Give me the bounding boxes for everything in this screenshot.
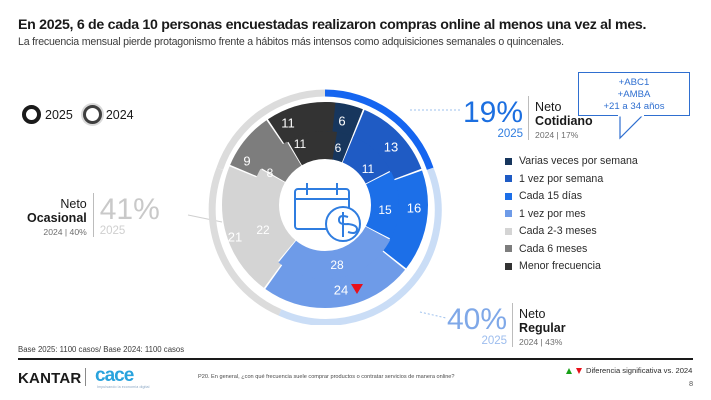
inner-label-6: 11 [294, 137, 307, 151]
insight-bubble: +ABC1 +AMBA +21 a 34 años [578, 72, 690, 116]
net-ocasional-values: 41% 2025 [100, 195, 160, 237]
net-ocasional-previous: 2024 | 40% [43, 227, 86, 237]
donut-chart: 6 13 16 24 21 9 11 6 11 15 28 22 8 11 [205, 85, 445, 325]
outer-label-5: 9 [243, 154, 250, 169]
net-ocasional-value: 41% [100, 195, 160, 225]
outer-label-6: 11 [281, 116, 295, 131]
net-ocasional-name-top: Neto [60, 197, 86, 211]
significant-difference-label: Diferencia significativa vs. 2024 [586, 366, 692, 375]
kantar-logo: KANTAR [18, 370, 81, 387]
footer-divider [18, 358, 693, 360]
calendar-dollar-icon [295, 183, 360, 241]
year-key: 2025 2024 [22, 105, 134, 124]
outer-label-3: 24 [334, 283, 348, 298]
bubble-line-1: +AMBA [618, 89, 651, 100]
legend-label-4: Cada 2-3 meses [519, 225, 597, 237]
cace-logo: cace [95, 366, 133, 385]
net-regular-year: 2025 [481, 335, 507, 347]
outer-label-1: 13 [384, 140, 398, 155]
net-cotidiano-name-bottom: Cotidiano [535, 114, 593, 128]
net-ocasional-year: 2025 [100, 225, 126, 237]
bubble-tail-icon [618, 115, 652, 141]
year-key-2024-label: 2024 [106, 108, 134, 122]
net-cotidiano-year: 2025 [497, 128, 523, 140]
slide-root: En 2025, 6 de cada 10 personas encuestad… [0, 0, 711, 400]
triangle-down-icon [576, 368, 582, 374]
outer-label-4: 21 [228, 230, 242, 245]
legend-item-menor-frecuencia[interactable]: Menor frecuencia [505, 260, 638, 272]
net-regular-divider [512, 303, 513, 347]
net-ocasional-labels: Neto Ocasional 2024 | 40% [27, 197, 87, 237]
legend-swatch-2 [505, 193, 512, 200]
significant-difference-note: Diferencia significativa vs. 2024 [566, 366, 692, 375]
inner-label-5: 8 [267, 166, 274, 180]
net-cotidiano-value: 19% [463, 98, 523, 128]
net-regular-values: 40% 2025 [447, 305, 507, 347]
legend-swatch-1 [505, 175, 512, 182]
legend-label-2: Cada 15 días [519, 190, 582, 202]
donut-svg: 6 13 16 24 21 9 11 6 11 15 28 22 8 11 [205, 85, 445, 325]
year-key-2025-label: 2025 [45, 108, 73, 122]
inner-label-1: 11 [362, 162, 375, 176]
donut-ring-2024-icon [83, 105, 102, 124]
net-cotidiano: 19% 2025 Neto Cotidiano 2024 | 17% [463, 96, 593, 140]
outer-label-2: 16 [407, 201, 421, 216]
legend-item-1-vez-por-mes[interactable]: 1 vez por mes [505, 208, 638, 220]
legend-label-3: 1 vez por mes [519, 208, 586, 220]
legend-item-varias-veces-por-semana[interactable]: Varias veces por semana [505, 155, 638, 167]
legend-swatch-5 [505, 245, 512, 252]
net-cotidiano-labels: Neto Cotidiano 2024 | 17% [535, 100, 593, 140]
net-ocasional: Neto Ocasional 2024 | 40% 41% 2025 [27, 193, 160, 237]
inner-label-4: 22 [256, 223, 270, 237]
legend-label-6: Menor frecuencia [519, 260, 601, 272]
legend-label-5: Cada 6 meses [519, 243, 587, 255]
year-key-2024[interactable]: 2024 [83, 105, 134, 124]
legend-swatch-0 [505, 158, 512, 165]
legend-item-cada-15-dias[interactable]: Cada 15 días [505, 190, 638, 202]
net-ocasional-name-bottom: Ocasional [27, 211, 87, 225]
net-cotidiano-previous: 2024 | 17% [535, 130, 593, 140]
inner-label-0: 6 [335, 141, 342, 155]
net-ocasional-divider [93, 193, 94, 237]
net-regular: 40% 2025 Neto Regular 2024 | 43% [447, 303, 566, 347]
legend-swatch-6 [505, 263, 512, 270]
legend-swatch-3 [505, 210, 512, 217]
page-title: En 2025, 6 de cada 10 personas encuestad… [18, 17, 708, 33]
chart-legend: Varias veces por semana 1 vez por semana… [505, 155, 638, 272]
net-cotidiano-divider [528, 96, 529, 140]
outer-label-0: 6 [338, 114, 345, 129]
question-text: P20. En general, ¿con qué frecuencia sue… [198, 374, 455, 380]
bubble-line-0: +ABC1 [619, 77, 650, 88]
legend-label-1: 1 vez por semana [519, 173, 603, 185]
legend-item-cada-2-3-meses[interactable]: Cada 2-3 meses [505, 225, 638, 237]
page-number: 8 [689, 379, 693, 388]
logo-divider [85, 368, 86, 386]
net-cotidiano-name-top: Neto [535, 100, 593, 114]
cace-logo-tagline: Impulsando la economía digital [97, 385, 150, 389]
legend-swatch-4 [505, 228, 512, 235]
inner-label-2: 15 [378, 203, 392, 217]
net-regular-name-bottom: Regular [519, 321, 566, 335]
donut-ring-2025-icon [22, 105, 41, 124]
inner-label-3: 28 [330, 258, 344, 272]
net-regular-value: 40% [447, 305, 507, 335]
base-note: Base 2025: 1100 casos/ Base 2024: 1100 c… [18, 345, 184, 354]
net-regular-labels: Neto Regular 2024 | 43% [519, 307, 566, 347]
legend-item-1-vez-por-semana[interactable]: 1 vez por semana [505, 173, 638, 185]
legend-item-cada-6-meses[interactable]: Cada 6 meses [505, 243, 638, 255]
net-regular-previous: 2024 | 43% [519, 337, 566, 347]
net-cotidiano-values: 19% 2025 [463, 98, 523, 140]
year-key-2025[interactable]: 2025 [22, 105, 73, 124]
page-subtitle: La frecuencia mensual pierde protagonism… [18, 36, 708, 48]
bubble-line-2: +21 a 34 años [603, 101, 664, 112]
legend-label-0: Varias veces por semana [519, 155, 638, 167]
net-regular-name-top: Neto [519, 307, 566, 321]
triangle-up-icon [566, 368, 572, 374]
